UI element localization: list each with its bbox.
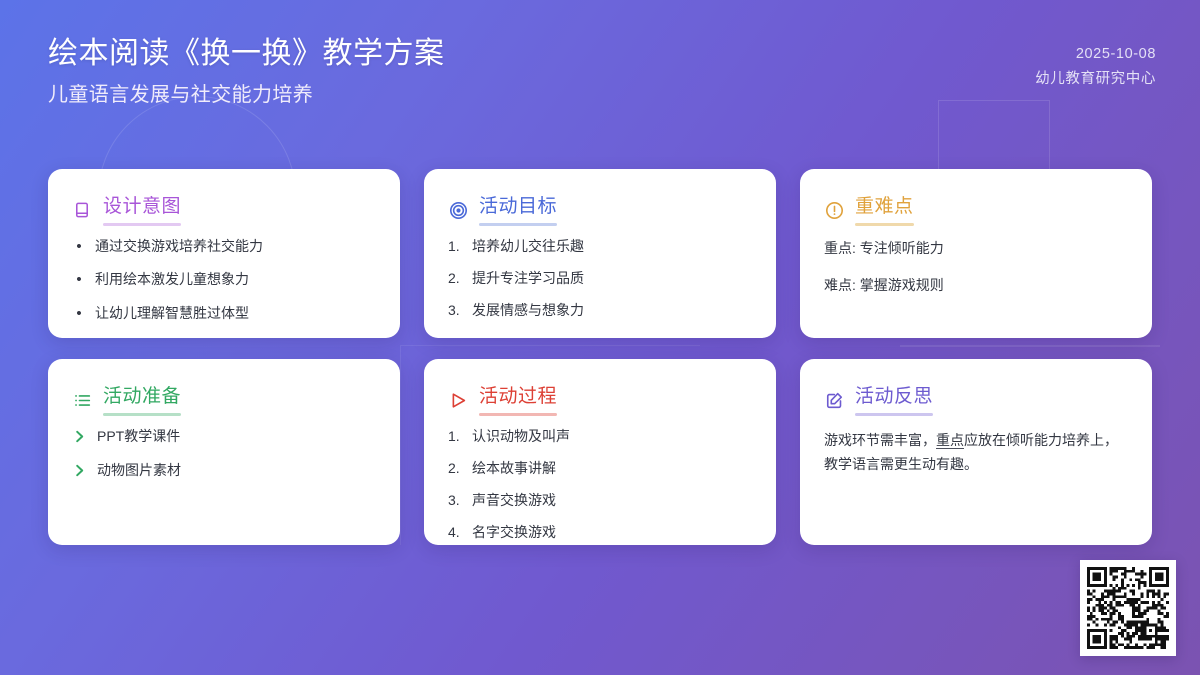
- list-item: 3.声音交换游戏: [448, 490, 752, 511]
- list-item: •通过交换游戏培养社交能力: [72, 236, 376, 259]
- list-item-label: 发展情感与想象力: [472, 300, 752, 321]
- paragraph-highlight: 重点: [936, 432, 964, 449]
- bullet-dot-icon: •: [72, 236, 86, 259]
- card-item-list: 1.培养幼儿交往乐趣2.提升专注学习品质3.发展情感与想象力: [448, 236, 752, 321]
- card-activity-process[interactable]: 活动过程1.认识动物及叫声2.绘本故事讲解3.声音交换游戏4.名字交换游戏: [424, 359, 776, 545]
- list-item-label: 通过交换游戏培养社交能力: [95, 236, 376, 257]
- page-subtitle: 儿童语言发展与社交能力培养: [48, 81, 445, 109]
- key-value-list: 重点: 专注倾听能力难点: 掌握游戏规则: [824, 238, 1128, 296]
- card-activity-preparation[interactable]: 活动准备PPT教学课件动物图片素材: [48, 359, 400, 545]
- list-item-label: 利用绘本激发儿童想象力: [95, 269, 376, 290]
- card-item-list: 1.认识动物及叫声2.绘本故事讲解3.声音交换游戏4.名字交换游戏: [448, 426, 752, 543]
- list-item: 动物图片素材: [72, 460, 376, 481]
- list-item-label: 绘本故事讲解: [472, 458, 752, 479]
- card-item-list: PPT教学课件动物图片素材: [72, 426, 376, 481]
- card-title: 活动反思: [855, 385, 933, 409]
- title-block: 绘本阅读《换一换》教学方案 儿童语言发展与社交能力培养: [48, 34, 445, 109]
- list-item-label: 培养幼儿交往乐趣: [472, 236, 752, 257]
- card-title-underline: [479, 223, 557, 226]
- exclamation-circle-icon: [824, 200, 844, 220]
- organization-label: 幼儿教育研究中心: [1035, 69, 1156, 91]
- list-item-label: 认识动物及叫声: [472, 426, 752, 447]
- list-number: 4.: [448, 522, 463, 543]
- list-item: PPT教学课件: [72, 426, 376, 447]
- list-item: 4.名字交换游戏: [448, 522, 752, 543]
- list-item: 2.提升专注学习品质: [448, 268, 752, 289]
- card-grid: 设计意图•通过交换游戏培养社交能力•利用绘本激发儿童想象力•让幼儿理解智慧胜过体…: [48, 169, 1152, 545]
- card-header: 重难点: [824, 195, 1128, 226]
- list-item-label: 提升专注学习品质: [472, 268, 752, 289]
- list-item: 难点: 掌握游戏规则: [824, 275, 1128, 296]
- list-number: 3.: [448, 300, 463, 321]
- list-item: 1.培养幼儿交往乐趣: [448, 236, 752, 257]
- list-item: •让幼儿理解智慧胜过体型: [72, 303, 376, 326]
- card-title-wrap: 活动准备: [103, 385, 181, 416]
- card-header: 活动准备: [72, 385, 376, 416]
- qr-code-image: [1087, 567, 1169, 649]
- card-header: 设计意图: [72, 195, 376, 226]
- list-item: 重点: 专注倾听能力: [824, 238, 1128, 259]
- card-title-wrap: 重难点: [855, 195, 914, 226]
- list-icon: [72, 390, 92, 410]
- bullet-dot-icon: •: [72, 303, 86, 326]
- list-number: 3.: [448, 490, 463, 511]
- reflection-paragraph: 游戏环节需丰富，重点应放在倾听能力培养上，教学语言需更生动有趣。: [824, 428, 1128, 476]
- list-number: 1.: [448, 426, 463, 447]
- play-triangle-icon: [448, 390, 468, 410]
- card-title-underline: [479, 413, 557, 416]
- card-header: 活动过程: [448, 385, 752, 416]
- list-item: 1.认识动物及叫声: [448, 426, 752, 447]
- card-title-wrap: 活动过程: [479, 385, 557, 416]
- list-number: 1.: [448, 236, 463, 257]
- slide-header: 绘本阅读《换一换》教学方案 儿童语言发展与社交能力培养 2025-10-08 幼…: [0, 0, 1200, 140]
- card-title: 活动准备: [103, 385, 181, 409]
- target-icon: [448, 200, 468, 220]
- bullet-dot-icon: •: [72, 269, 86, 292]
- card-title-underline: [855, 223, 914, 226]
- card-header: 活动目标: [448, 195, 752, 226]
- chevron-right-icon: [72, 460, 88, 481]
- book-icon: [72, 200, 92, 220]
- card-title-wrap: 设计意图: [103, 195, 181, 226]
- slide-root: 绘本阅读《换一换》教学方案 儿童语言发展与社交能力培养 2025-10-08 幼…: [0, 0, 1200, 675]
- qr-code[interactable]: [1080, 560, 1176, 656]
- edit-square-icon: [824, 390, 844, 410]
- card-title: 活动过程: [479, 385, 557, 409]
- card-title: 设计意图: [103, 195, 181, 219]
- list-item-label: 动物图片素材: [97, 460, 376, 481]
- date-label: 2025-10-08: [1035, 44, 1156, 66]
- card-design-intent[interactable]: 设计意图•通过交换游戏培养社交能力•利用绘本激发儿童想象力•让幼儿理解智慧胜过体…: [48, 169, 400, 338]
- chevron-right-icon: [72, 426, 88, 447]
- card-activity-reflection[interactable]: 活动反思游戏环节需丰富，重点应放在倾听能力培养上，教学语言需更生动有趣。: [800, 359, 1152, 545]
- header-meta: 2025-10-08 幼儿教育研究中心: [1035, 34, 1156, 91]
- list-item-label: 声音交换游戏: [472, 490, 752, 511]
- page-title: 绘本阅读《换一换》教学方案: [48, 34, 445, 75]
- card-header: 活动反思: [824, 385, 1128, 416]
- card-title-underline: [855, 413, 933, 416]
- list-number: 2.: [448, 268, 463, 289]
- card-activity-goals[interactable]: 活动目标1.培养幼儿交往乐趣2.提升专注学习品质3.发展情感与想象力: [424, 169, 776, 338]
- list-item-label: PPT教学课件: [97, 426, 376, 447]
- paragraph-text-before: 游戏环节需丰富，: [824, 432, 936, 448]
- list-item: 2.绘本故事讲解: [448, 458, 752, 479]
- list-item-label: 让幼儿理解智慧胜过体型: [95, 303, 376, 324]
- card-title-underline: [103, 223, 181, 226]
- card-title: 活动目标: [479, 195, 557, 219]
- card-title: 重难点: [855, 195, 914, 219]
- list-item: •利用绘本激发儿童想象力: [72, 269, 376, 292]
- list-item-label: 名字交换游戏: [472, 522, 752, 543]
- list-number: 2.: [448, 458, 463, 479]
- card-item-list: •通过交换游戏培养社交能力•利用绘本激发儿童想象力•让幼儿理解智慧胜过体型: [72, 236, 376, 326]
- card-title-wrap: 活动目标: [479, 195, 557, 226]
- list-item: 3.发展情感与想象力: [448, 300, 752, 321]
- card-title-wrap: 活动反思: [855, 385, 933, 416]
- card-title-underline: [103, 413, 181, 416]
- card-key-difficulties[interactable]: 重难点重点: 专注倾听能力难点: 掌握游戏规则: [800, 169, 1152, 338]
